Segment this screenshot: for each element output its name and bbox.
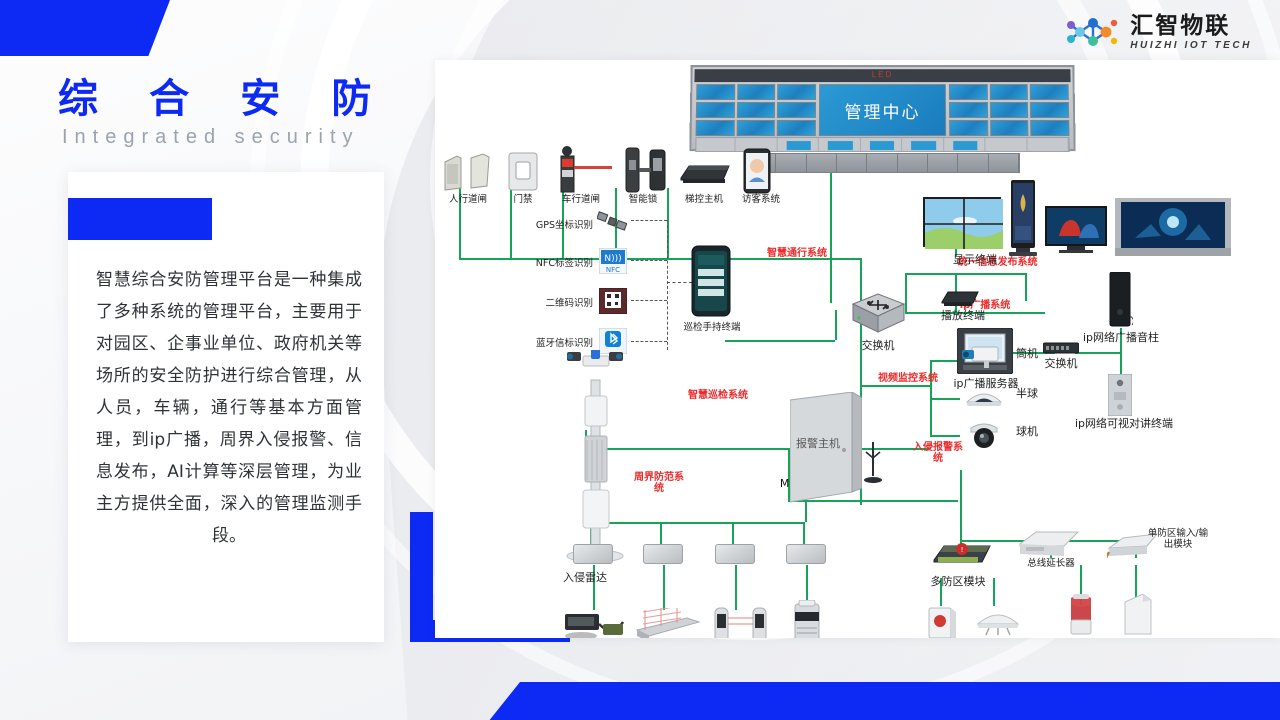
link-camera-dome [930,398,960,400]
vehicle-barrier-icon [553,142,613,199]
emergency-button-icon [927,606,957,638]
qr-code-icon [599,288,627,319]
sound-light-alarm-icon [1065,594,1097,638]
camera-label-0: 筒机 [1010,348,1044,359]
card-accent-bar [68,198,212,240]
pedestrian-turnstile-icon [443,150,491,197]
glass-break-detector-icon [1121,594,1155,638]
video-wall-frame: LED 管理中心 [689,65,1075,151]
svg-text:!: ! [961,546,964,554]
mbus-dev-3 [735,565,737,610]
blue-bar-bottom [488,682,1280,720]
access-label-1: 门禁 [499,194,547,205]
svg-text:N))): N))) [604,254,621,264]
link-patrol-bus [725,340,835,342]
link-alarm-modules-riser [960,470,962,540]
perimeter-processor-2-icon [643,544,683,564]
patrol-dash-3 [631,341,667,342]
vibration-fiber-icon [563,608,627,638]
mbus-sensor-2 [660,522,662,544]
patrol-dash-1 [631,260,667,261]
system-label-access: 智慧通行系统 [742,248,852,259]
molecule-network-icon [1066,12,1120,52]
system-label-patrol: 智慧巡检系统 [670,390,766,401]
patrol-dash-2 [631,300,667,301]
mbus-sensor-3 [732,522,734,544]
intrusion-radar-pole-icon [561,350,631,575]
link-play-rail [955,273,1027,275]
digital-signage-kiosk-icon [1009,180,1037,265]
alarm-module-label-0: 多防区模块 [913,576,1003,587]
led-strip: LED [694,69,1070,82]
wall-right-group [949,84,1069,136]
link-patrol-riser [835,310,837,340]
video-wall-display-icon [923,197,1001,247]
perimeter-processor-1-icon [573,544,613,564]
nfc-tag-icon: N))) NFC [599,248,627,279]
mbus-dev-2 [663,565,665,610]
door-access-reader-icon [505,150,541,197]
page-title: 综 合 安 防 [58,66,391,124]
wall-center-screen: 管理中心 [819,84,947,136]
description-card: 智慧综合安防管理平台是一种集成了多种系统的管理平台，主要用于对园区、企事业单位、… [68,172,384,642]
video-wall-screens: 管理中心 [696,84,1070,136]
alarm-host-icon [790,392,862,509]
broadcast-switch-label: 交换机 [1031,358,1091,369]
bullet-camera-icon [962,344,1004,375]
access-label-0: 人行道闸 [435,194,503,205]
ip-video-intercom-icon [1108,374,1132,421]
blue-corner-top-left [0,0,170,56]
slide-root: 汇智物联 HUIZHI IOT TECH 综 合 安 防 Integrated … [0,0,1280,720]
alarm-host-label: 报警主机 [787,438,849,449]
elevator-control-host-icon [677,160,733,193]
patrol-method-2: 二维码识别 [503,298,593,309]
antenna-icon [860,440,886,489]
perimeter-radar-label: 入侵雷达 [545,572,625,583]
access-label-3: 智能锁 [613,194,673,205]
link-video-rail [860,385,930,387]
link-camera-bullet [930,360,960,362]
core-switch-icon [847,292,909,336]
wall-left-group [696,84,816,136]
multi-zone-module-icon: ! [930,540,994,575]
operator-table [745,153,1020,173]
lcd-tv-icon [1045,206,1107,259]
gps-satellite-icon [597,210,627,239]
mbus-sensor-4 [803,522,805,544]
ip-speaker-column-icon [1107,272,1133,335]
switch-label: 交换机 [833,340,923,351]
link-access-rail [459,258,727,260]
svg-text:NFC: NFC [606,266,620,274]
page-subtitle: Integrated security [62,126,360,149]
system-label-intrusion: 入侵报警系统 [910,442,966,464]
link-bc-switch-out [1075,352,1120,354]
beam-detector-icon [713,606,771,638]
patrol-method-1: NFC标签识别 [503,258,593,269]
patrol-dash-0 [631,220,667,221]
link-center-to-switch [830,173,832,303]
patrol-method-3: 蓝牙信标识别 [495,338,593,349]
brand-name-en: HUIZHI IOT TECH [1130,41,1252,51]
access-label-2: 车行道闸 [545,194,617,205]
camera-label-2: 球机 [1010,426,1044,437]
led-text: LED [872,70,894,79]
dome-camera-icon [965,386,1003,415]
large-led-screen-icon [1115,198,1231,265]
brand-wordmark: 汇智物联 HUIZHI IOT TECH [1130,14,1252,51]
link-info-riser [1025,273,1027,301]
patrol-dashed-bus [667,220,668,350]
architecture-diagram-panel: LED 管理中心 [435,60,1280,638]
patrol-method-0: GPS坐标识别 [503,220,593,231]
description-text: 智慧综合安防管理平台是一种集成了多种系统的管理平台，主要用于对园区、企事业单位、… [96,264,362,552]
link-camera-ptz [930,435,960,437]
link-bc-intercom [1120,352,1122,374]
brand-logo: 汇智物联 HUIZHI IOT TECH [1066,12,1252,52]
speaker-column-label: ip网络广播音柱 [1065,332,1177,343]
patrol-handheld-terminal-icon [691,245,731,322]
intercom-label: ip网络可视对讲终端 [1057,418,1191,429]
ptz-camera-icon [965,420,1003,455]
access-label-4: 梯控主机 [669,194,739,205]
perimeter-processor-3-icon [715,544,755,564]
electric-fence-icon [635,608,701,638]
system-label-perimeter: 周界防范系统 [630,472,688,494]
brand-name-cn: 汇智物联 [1130,14,1252,37]
play-terminal-label: 播放终端 [927,310,999,321]
laser-scanner-icon [787,600,827,638]
camera-label-1: 半球 [1010,388,1044,399]
patrol-terminal-label: 巡检手持终端 [671,322,753,333]
alarm-module-label-1: 总线延长器 [1021,558,1081,569]
access-label-5: 访客系统 [731,194,791,205]
visitor-system-phone-icon [742,148,772,199]
display-terminal-label: 显示终端 [935,254,1015,265]
patrol-dash-bus [667,282,692,283]
alarm-module-label-2: 单防区输入/输出模块 [1147,528,1209,550]
smoke-detector-icon [975,606,1021,638]
smart-lock-icon [620,146,672,199]
perimeter-processor-4-icon [786,544,826,564]
